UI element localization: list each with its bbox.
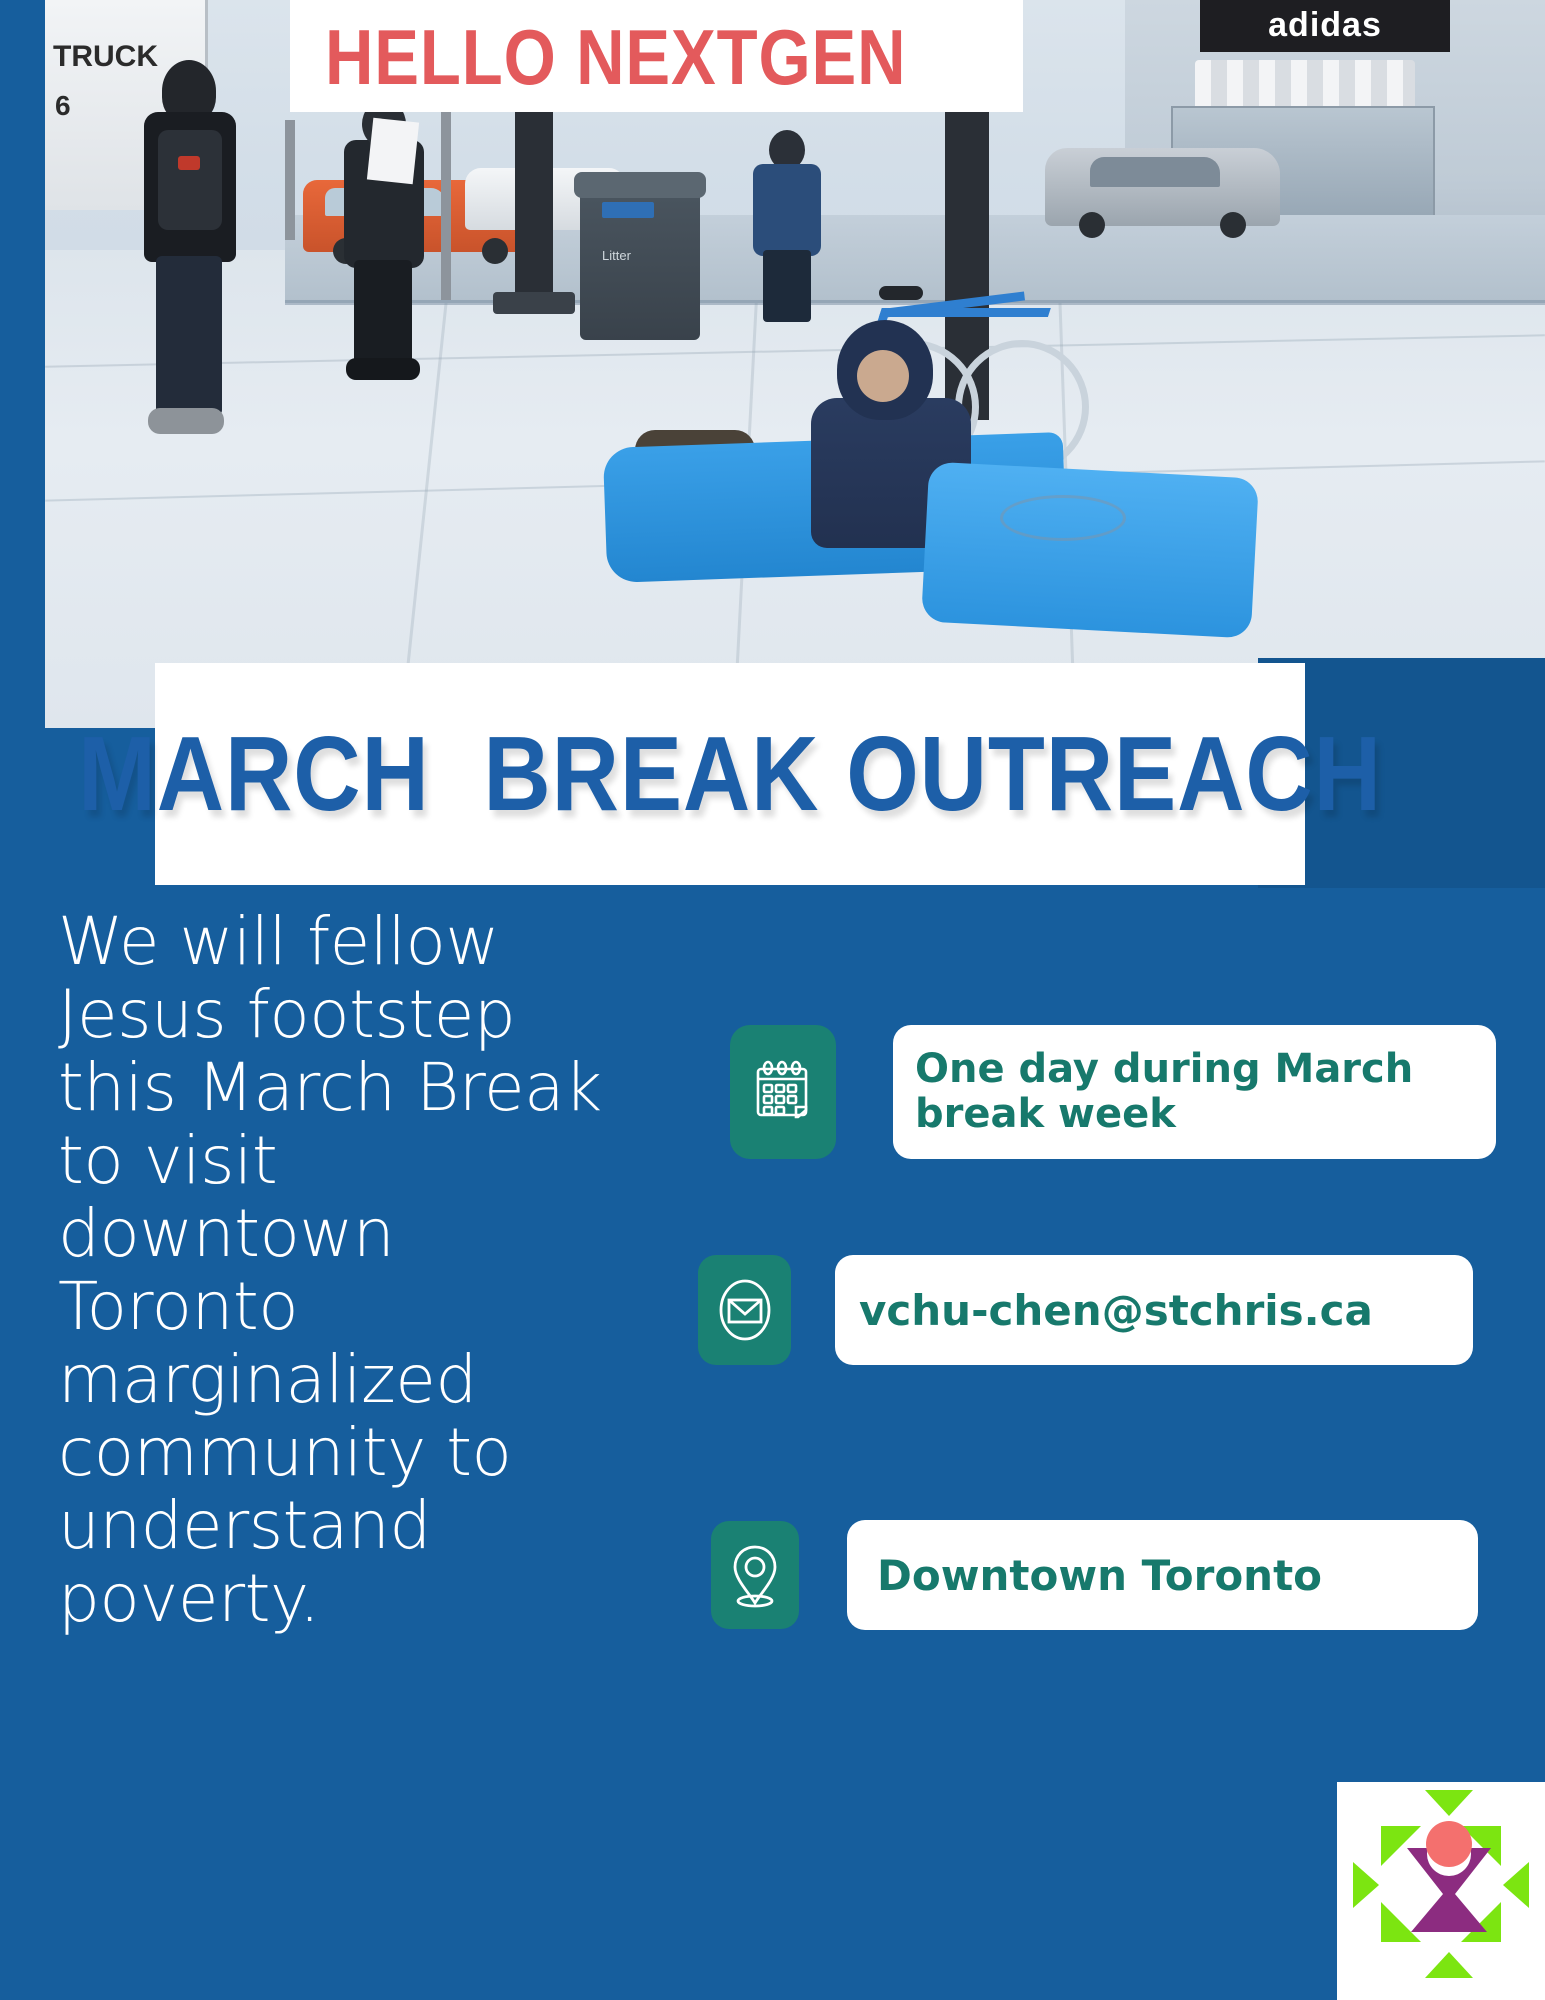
info-row-email: vchu-chen@stchris.ca: [698, 1255, 1473, 1365]
car-wheel: [1220, 212, 1246, 238]
calendar-icon: [730, 1025, 836, 1159]
bin-lid: [574, 172, 706, 198]
photo-sign-post: [285, 120, 295, 240]
info-card-email[interactable]: vchu-chen@stchris.ca: [835, 1255, 1473, 1365]
photo-manhole: [1000, 495, 1126, 541]
person-backpack: [158, 130, 222, 230]
bin-tag: [602, 202, 654, 218]
person-flyer: [367, 118, 419, 184]
car-wheel: [1079, 212, 1105, 238]
person-legs: [763, 250, 811, 322]
photo-person-walking: [130, 60, 250, 450]
photo-sign-post: [441, 110, 451, 300]
photo-person-blue-coat: [745, 130, 835, 310]
photo-sleeping-bag-2: [921, 461, 1259, 638]
info-card-date: One day during March break week: [893, 1025, 1496, 1159]
map-pin-icon: [711, 1521, 799, 1629]
person-body: [753, 164, 821, 256]
person-shoe: [148, 408, 224, 434]
person-shoe: [346, 358, 420, 380]
truck-number: 6: [55, 90, 71, 122]
info-row-date: One day during March break week: [730, 1025, 1496, 1159]
person-face: [857, 350, 909, 402]
photo-litter-bin: Litter: [580, 190, 700, 340]
page-title: MARCH BREAK OUTREACH: [224, 663, 1236, 885]
car-window: [1090, 157, 1220, 187]
title-banner: MARCH BREAK OUTREACH: [155, 663, 1305, 885]
photo-car-silver: [1045, 148, 1280, 226]
body-paragraph: We will fellow Jesus footstep this March…: [58, 905, 618, 1635]
envelope-icon: [698, 1255, 791, 1365]
logo-graphic: [1337, 1782, 1545, 2000]
bin-label: Litter: [602, 248, 631, 263]
header-title: HELLO NEXTGEN: [325, 10, 927, 104]
car-wheel: [482, 238, 508, 264]
poster-canvas: adidas TRUCK 6: [0, 0, 1545, 2000]
photo-awning: [1195, 60, 1415, 106]
photo-store-sign: adidas: [1200, 0, 1450, 52]
pole-base: [493, 292, 575, 314]
bike-seat: [879, 286, 923, 300]
photo-person-flyer: [330, 100, 440, 380]
person-legs: [354, 260, 412, 370]
person-legs: [156, 256, 222, 416]
info-card-location: Downtown Toronto: [847, 1520, 1478, 1630]
backpack-logo: [178, 156, 200, 170]
organization-logo: [1337, 1782, 1545, 2000]
store-sign-text: adidas: [1200, 0, 1450, 50]
info-row-location: Downtown Toronto: [711, 1520, 1478, 1630]
